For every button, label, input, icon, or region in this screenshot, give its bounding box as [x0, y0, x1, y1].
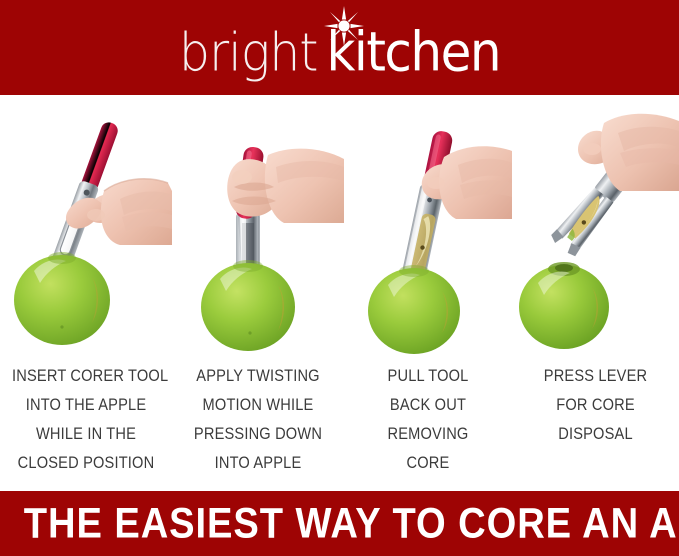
- caption-line: INTO APPLE: [184, 448, 332, 477]
- caption-line: MOTION WHILE: [184, 390, 332, 419]
- logo-word-kitchen: kitchen: [326, 25, 500, 79]
- caption-line: REMOVING: [356, 419, 500, 448]
- caption-step-3: PULL TOOL BACK OUT REMOVING CORE: [344, 355, 512, 491]
- caption-line: APPLY TWISTING: [184, 361, 332, 390]
- infographic-page: brightkitchen: [0, 0, 679, 556]
- step-captions: INSERT CORER TOOL INTO THE APPLE WHILE I…: [0, 355, 679, 491]
- step-1-illustration: [0, 95, 172, 355]
- brand-header: brightkitchen: [0, 0, 679, 95]
- caption-step-4: PRESS LEVER FOR CORE DISPOSAL: [512, 355, 679, 491]
- step-photo-1: [0, 95, 172, 355]
- caption-step-2: APPLY TWISTING MOTION WHILE PRESSING DOW…: [172, 355, 344, 491]
- caption-line: WHILE IN THE: [12, 419, 160, 448]
- caption-line: INSERT CORER TOOL: [12, 361, 160, 390]
- caption-line: PULL TOOL: [356, 361, 500, 390]
- caption-line: DISPOSAL: [524, 419, 668, 448]
- caption-line: CORE: [356, 448, 500, 477]
- caption-line: PRESS LEVER: [524, 361, 668, 390]
- step-photo-4: [512, 95, 679, 355]
- caption-line: FOR CORE: [524, 390, 668, 419]
- logo-wordmark: brightkitchen: [0, 29, 679, 79]
- bottom-banner: THE EASIEST WAY TO CORE AN APPLE: [0, 491, 679, 556]
- step-2-illustration: [172, 95, 344, 355]
- caption-line: BACK OUT: [356, 390, 500, 419]
- caption-line: INTO THE APPLE: [12, 390, 160, 419]
- step-photo-strip: [0, 95, 679, 355]
- logo: brightkitchen: [0, 4, 679, 94]
- step-4-illustration: [512, 95, 679, 355]
- step-photo-3: [344, 95, 512, 355]
- caption-line: PRESSING DOWN: [184, 419, 332, 448]
- banner-headline: THE EASIEST WAY TO CORE AN APPLE: [24, 491, 655, 556]
- caption-line: CLOSED POSITION: [12, 448, 160, 477]
- logo-word-bright: bright: [179, 26, 318, 79]
- step-3-illustration: [344, 95, 512, 355]
- caption-step-1: INSERT CORER TOOL INTO THE APPLE WHILE I…: [0, 355, 172, 491]
- step-photo-2: [172, 95, 344, 355]
